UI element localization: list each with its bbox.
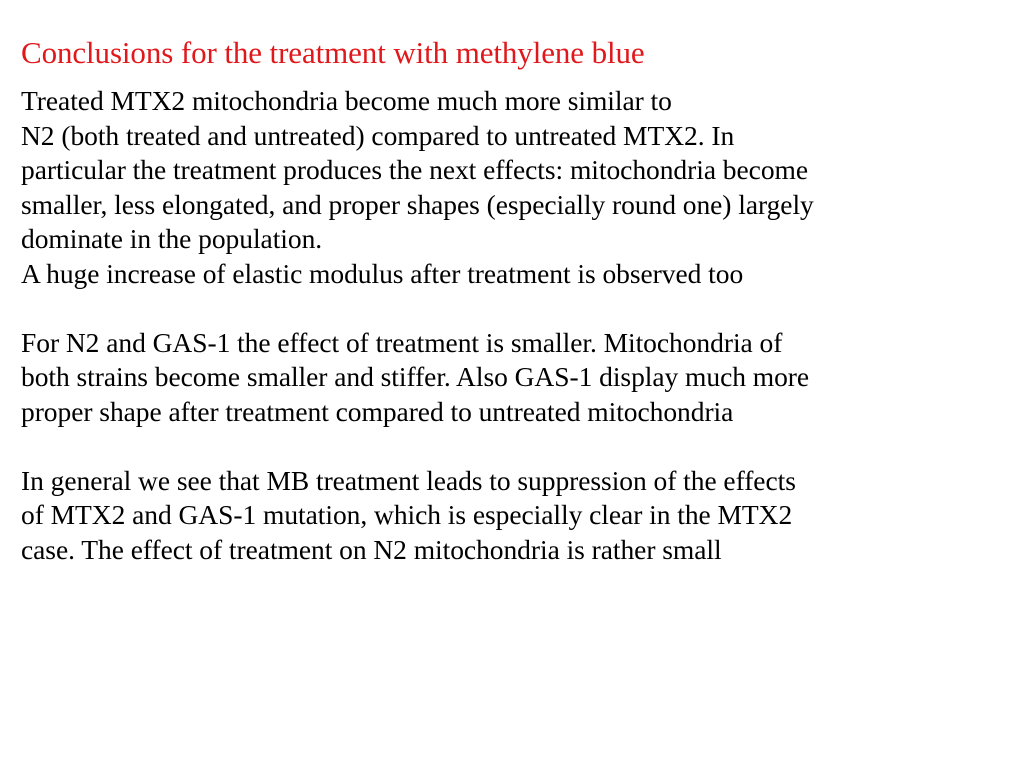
paragraph-line: case. The effect of treatment on N2 mito… (21, 533, 1021, 568)
presentation-slide: Conclusions for the treatment with methy… (0, 0, 1024, 767)
paragraph-line: dominate in the population. (21, 222, 1021, 257)
paragraph-line: smaller, less elongated, and proper shap… (21, 188, 1021, 223)
paragraph-line: For N2 and GAS-1 the effect of treatment… (21, 326, 1021, 361)
paragraph-spacer (21, 429, 1021, 464)
paragraph-spacer (21, 291, 1021, 326)
paragraph-line: In general we see that MB treatment lead… (21, 464, 1021, 499)
paragraph-general-conclusion: In general we see that MB treatment lead… (21, 464, 1021, 568)
paragraph-mtx2-treatment: Treated MTX2 mitochondria become much mo… (21, 84, 1021, 291)
paragraph-line: N2 (both treated and untreated) compared… (21, 119, 1021, 154)
slide-body-text: Treated MTX2 mitochondria become much mo… (21, 84, 1021, 567)
paragraph-n2-gas1-treatment: For N2 and GAS-1 the effect of treatment… (21, 326, 1021, 430)
paragraph-line: particular the treatment produces the ne… (21, 153, 1021, 188)
paragraph-line: proper shape after treatment compared to… (21, 395, 1021, 430)
paragraph-line: both strains become smaller and stiffer.… (21, 360, 1021, 395)
paragraph-line: of MTX2 and GAS-1 mutation, which is esp… (21, 498, 1021, 533)
paragraph-line: Treated MTX2 mitochondria become much mo… (21, 84, 1021, 119)
page-title: Conclusions for the treatment with methy… (21, 35, 1001, 71)
paragraph-line: A huge increase of elastic modulus after… (21, 257, 1021, 292)
